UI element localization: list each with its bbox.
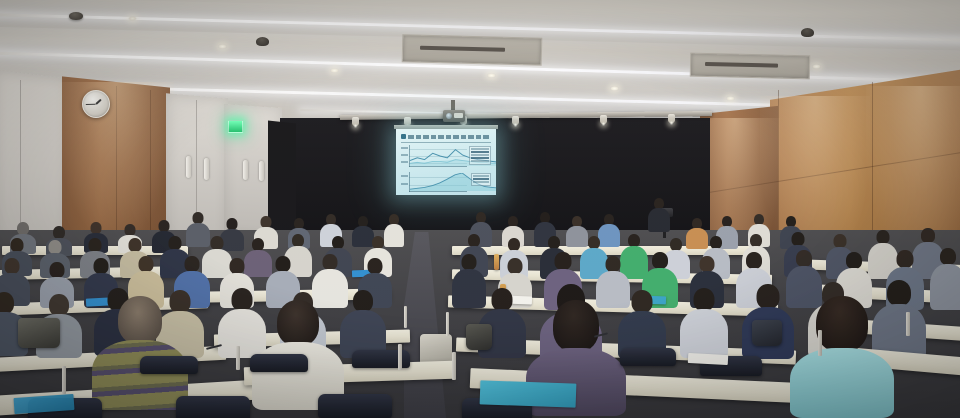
slide-chart-2 — [401, 172, 491, 194]
person-head — [746, 252, 762, 269]
person-head — [49, 294, 69, 316]
folder[interactable] — [480, 380, 577, 407]
desk-leg — [62, 366, 66, 394]
person-head — [508, 258, 523, 274]
chart2-ytick-1 — [401, 175, 408, 177]
clock-minute-hand — [86, 103, 96, 105]
slide-chart-1 — [401, 145, 491, 169]
desk-leg — [398, 344, 402, 370]
person-head — [757, 284, 780, 309]
chart2-x-axis — [409, 191, 467, 192]
person-head — [792, 232, 805, 246]
person-head — [129, 238, 142, 252]
downlight-3 — [487, 73, 496, 78]
door-handle-1[interactable] — [186, 156, 191, 178]
downlight-2 — [330, 68, 339, 73]
wall-clock — [82, 90, 110, 118]
desk-leg — [906, 312, 910, 336]
door-handle-4[interactable] — [259, 161, 264, 181]
audience-member — [340, 290, 386, 356]
chart2-ytick-2 — [401, 183, 408, 185]
person-head — [897, 250, 914, 268]
desk-leg — [452, 352, 456, 380]
person-head — [652, 252, 668, 269]
chart1-ytick-1 — [401, 147, 408, 149]
track-light-1 — [352, 117, 359, 126]
person-head — [94, 258, 109, 274]
person-head — [118, 296, 162, 344]
person-head — [230, 258, 245, 274]
person-head — [0, 292, 14, 314]
chart1-legend-row — [471, 157, 489, 159]
chart2-legend-row — [473, 181, 489, 183]
chart2-legend-row — [473, 178, 489, 180]
person-head — [940, 248, 956, 265]
vent-slot — [420, 46, 506, 52]
chart1-legend — [469, 146, 491, 165]
ceiling-speaker-right — [801, 28, 814, 37]
exit-sign-icon — [228, 120, 243, 133]
person-head — [606, 256, 621, 272]
ceiling-air-vent-left — [402, 34, 543, 65]
chart1-ytick-2 — [401, 154, 408, 156]
person-head — [816, 296, 868, 352]
slide-content — [396, 129, 496, 195]
person-head — [492, 288, 513, 311]
person-head — [877, 230, 890, 244]
person-body — [92, 340, 188, 410]
slide-title-text — [408, 135, 491, 139]
chair-back — [176, 396, 250, 418]
person-body — [680, 309, 728, 358]
person-head — [555, 252, 572, 270]
chart1-legend-row — [471, 151, 489, 153]
track-light-5 — [600, 115, 607, 124]
person-head — [834, 234, 847, 248]
projector — [443, 110, 465, 122]
person-head — [921, 228, 935, 243]
bag[interactable] — [752, 320, 782, 346]
person-head — [169, 236, 182, 250]
slide-title-rule — [401, 142, 491, 143]
desk-leg — [446, 312, 449, 336]
person-body — [790, 348, 894, 418]
bag[interactable] — [466, 324, 492, 350]
downlight-7 — [128, 16, 137, 21]
downlight-4 — [610, 86, 619, 91]
person-head — [50, 262, 65, 278]
person-body — [648, 208, 670, 232]
person-head — [353, 290, 373, 312]
chart2-legend — [471, 173, 491, 186]
lecture-hall-photo — [0, 0, 960, 418]
audience-member-foreground — [790, 296, 894, 414]
chart1-legend-row — [471, 148, 489, 150]
person-body — [930, 264, 960, 310]
audience-member-foreground — [92, 296, 188, 408]
ceiling-speaker-left — [256, 37, 269, 46]
chart1-x-axis — [409, 166, 467, 167]
person-head — [185, 256, 200, 272]
audience-member — [930, 248, 960, 308]
camera-operator — [648, 198, 670, 232]
clock-hour-hand — [95, 99, 101, 105]
person-head — [462, 254, 477, 270]
door-handle-2[interactable] — [204, 158, 209, 180]
chair-back — [140, 356, 198, 374]
person-head — [5, 258, 20, 274]
person-head — [276, 256, 291, 272]
backpack[interactable] — [18, 318, 60, 348]
desk-leg — [818, 330, 822, 356]
chair-back — [250, 354, 308, 372]
track-light-6 — [668, 114, 675, 123]
audience-member — [680, 288, 728, 356]
person-head — [89, 238, 102, 252]
person-head — [694, 288, 715, 311]
chair-back — [620, 348, 676, 366]
person-head — [553, 300, 599, 352]
person-head — [211, 236, 224, 250]
person-head — [49, 240, 62, 254]
paper-sheet[interactable] — [688, 353, 728, 365]
chair-back — [318, 394, 392, 418]
person-head — [632, 290, 653, 313]
slide-title-bullet-icon — [401, 134, 406, 139]
person-head — [700, 256, 715, 272]
person-head — [846, 252, 862, 269]
chart1-ytick-3 — [401, 161, 408, 163]
ceiling-air-vent-right — [690, 53, 811, 80]
door-handle-3[interactable] — [243, 160, 248, 180]
downlight-5 — [812, 64, 821, 69]
projection-screen — [396, 129, 496, 195]
person-head — [323, 254, 338, 270]
person-head — [368, 258, 383, 274]
chart1-legend-row — [471, 160, 489, 162]
person-head — [232, 288, 253, 311]
chart1-legend-row — [471, 154, 489, 156]
downlight-6 — [726, 96, 735, 101]
vent-slot — [705, 62, 778, 67]
person-head — [139, 256, 154, 272]
person-head — [796, 250, 812, 267]
chart2-legend-row — [473, 175, 489, 177]
smoke-detector-icon — [69, 12, 83, 20]
projector-lens-icon — [446, 113, 452, 119]
projector-label — [454, 113, 463, 118]
person-head — [277, 300, 319, 346]
desk-leg — [236, 346, 240, 370]
downlight-1 — [218, 44, 227, 49]
person-head — [11, 238, 24, 252]
slide-title-row — [401, 133, 491, 140]
desk-leg — [404, 306, 407, 328]
track-light-4 — [512, 116, 519, 125]
